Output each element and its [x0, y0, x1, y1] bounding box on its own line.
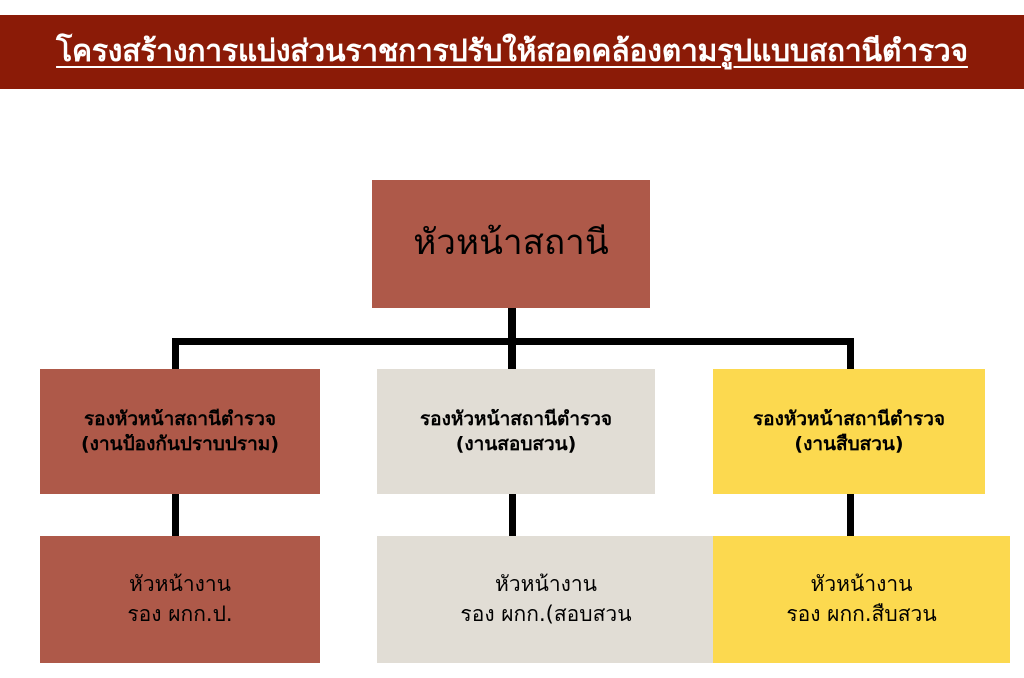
node-deputy-investigation[interactable]: รองหัวหน้าสถานีตำรวจ (งานสอบสวน)	[377, 369, 655, 494]
node-chief-prevention[interactable]: หัวหน้างาน รอง ผกก.ป.	[40, 536, 320, 663]
node-chief-investigation[interactable]: หัวหน้างาน รอง ผกก.(สอบสวน	[377, 536, 715, 663]
node-chief-inquiry[interactable]: หัวหน้างาน รอง ผกก.สืบสวน	[713, 536, 1010, 663]
node-chief-investigation-line1: หัวหน้างาน	[495, 571, 597, 598]
connector-drop-right	[847, 338, 854, 371]
node-chief-inquiry-line1: หัวหน้างาน	[810, 571, 912, 598]
node-chief-prevention-line2: รอง ผกก.ป.	[127, 601, 232, 628]
node-deputy-investigation-line1: รองหัวหน้าสถานีตำรวจ	[420, 407, 612, 432]
node-station-chief-line1: หัวหน้าสถานี	[413, 221, 609, 267]
node-deputy-prevention-line1: รองหัวหน้าสถานีตำรวจ	[84, 407, 276, 432]
connector-link-center	[509, 492, 516, 538]
node-deputy-inquiry-line2: (งานสืบสวน)	[794, 432, 903, 457]
connector-drop-left	[172, 338, 179, 371]
node-chief-investigation-line2: รอง ผกก.(สอบสวน	[460, 601, 631, 628]
node-station-chief[interactable]: หัวหน้าสถานี	[372, 180, 650, 308]
node-deputy-prevention[interactable]: รองหัวหน้าสถานีตำรวจ (งานป้องกันปราบปราม…	[40, 369, 320, 494]
node-deputy-investigation-line2: (งานสอบสวน)	[456, 432, 577, 457]
title-banner: โครงสร้างการแบ่งส่วนราชการปรับให้สอดคล้อ…	[0, 15, 1024, 89]
connector-link-right	[847, 492, 854, 538]
connector-root-stem	[508, 308, 516, 342]
connector-drop-center	[508, 338, 516, 371]
page-title: โครงสร้างการแบ่งส่วนราชการปรับให้สอดคล้อ…	[46, 36, 978, 68]
node-deputy-prevention-line2: (งานป้องกันปราบปราม)	[81, 432, 279, 457]
node-chief-inquiry-line2: รอง ผกก.สืบสวน	[786, 601, 936, 628]
node-deputy-inquiry-line1: รองหัวหน้าสถานีตำรวจ	[753, 407, 945, 432]
org-chart-canvas: โครงสร้างการแบ่งส่วนราชการปรับให้สอดคล้อ…	[0, 0, 1024, 678]
node-deputy-inquiry[interactable]: รองหัวหน้าสถานีตำรวจ (งานสืบสวน)	[713, 369, 985, 494]
node-chief-prevention-line1: หัวหน้างาน	[129, 571, 231, 598]
connector-link-left	[172, 492, 179, 538]
